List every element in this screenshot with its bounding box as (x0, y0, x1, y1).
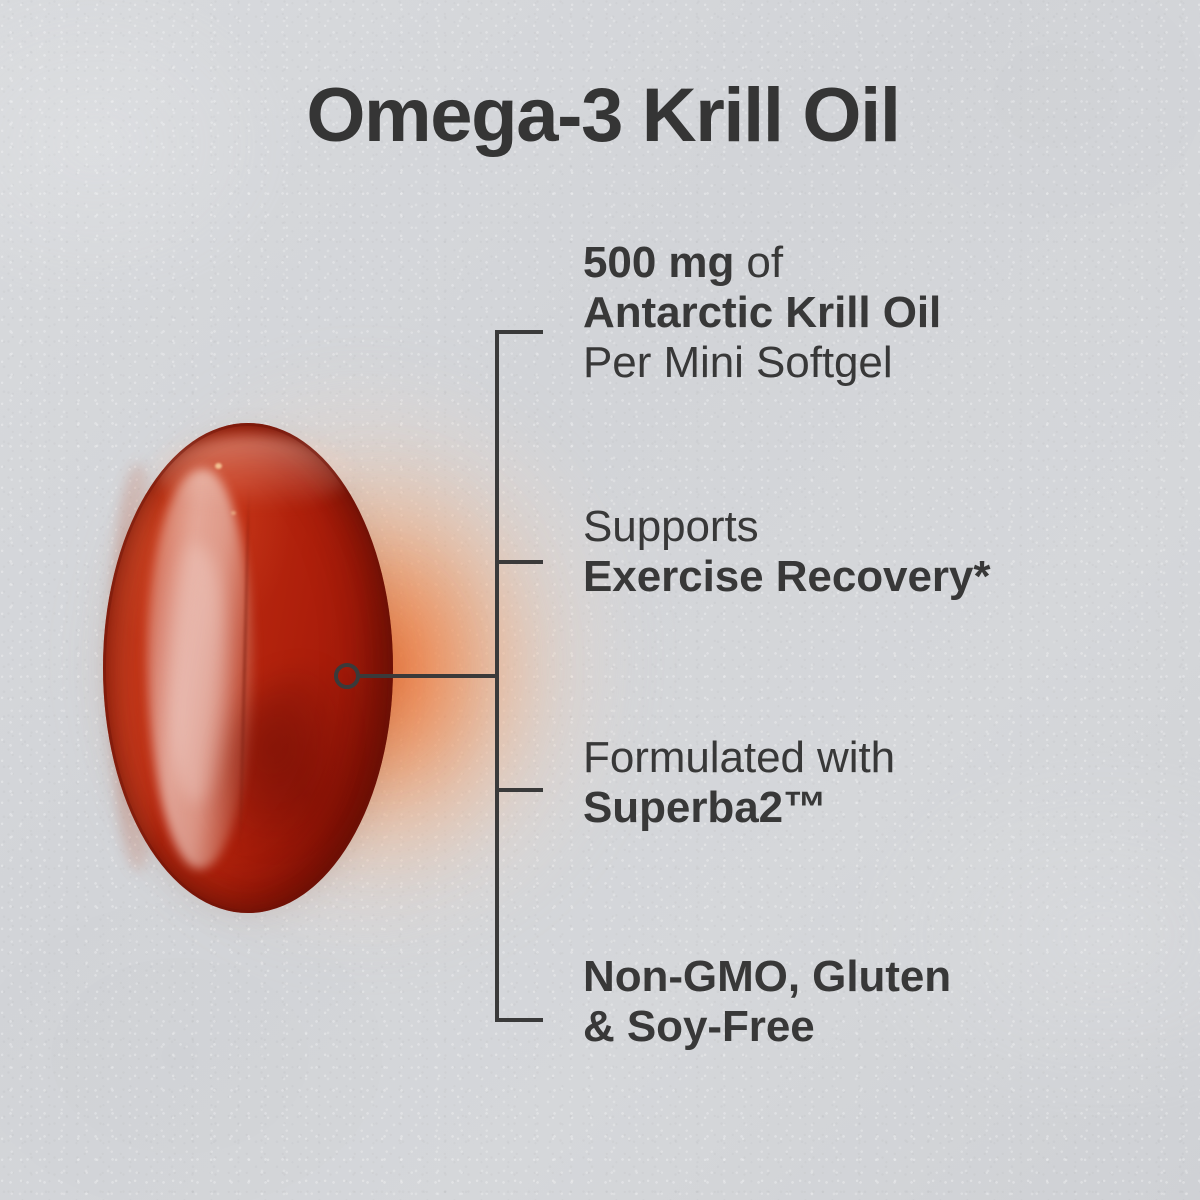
callout-line: Superba2™ (583, 783, 1143, 833)
callout-text-run: Formulated with (583, 733, 895, 782)
infographic-canvas: Omega-3 Krill Oil 500 mg ofAntarctic Kri… (0, 0, 1200, 1200)
callout-line: & Soy-Free (583, 1002, 1143, 1052)
callout-text-run: of (734, 238, 783, 287)
callout-text-run: Per Mini Softgel (583, 338, 893, 387)
callout-benefit: SupportsExercise Recovery* (583, 502, 1143, 602)
callout-line: Antarctic Krill Oil (583, 288, 1143, 338)
callout-line: Supports (583, 502, 1143, 552)
callout-text-run: Supports (583, 502, 759, 551)
callout-line: Exercise Recovery* (583, 552, 1143, 602)
callout-text-run: Non-GMO, Gluten (583, 952, 951, 1001)
anchor-circle-icon (336, 665, 358, 687)
callout-text-run: Antarctic Krill Oil (583, 288, 941, 337)
callout-ingredient: Formulated withSuperba2™ (583, 733, 1143, 833)
callout-certifications: Non-GMO, Gluten& Soy-Free (583, 952, 1143, 1052)
callout-line: Formulated with (583, 733, 1143, 783)
callout-line: 500 mg of (583, 238, 1143, 288)
callout-text-run: Superba2™ (583, 783, 827, 832)
callout-text-run: & Soy-Free (583, 1002, 815, 1051)
callout-line: Non-GMO, Gluten (583, 952, 1143, 1002)
callout-dosage: 500 mg ofAntarctic Krill OilPer Mini Sof… (583, 238, 1143, 388)
callout-line: Per Mini Softgel (583, 338, 1143, 388)
callout-text-run: Exercise Recovery* (583, 552, 990, 601)
callout-text-column: 500 mg ofAntarctic Krill OilPer Mini Sof… (583, 0, 1143, 1200)
callout-text-run: 500 mg (583, 238, 734, 287)
